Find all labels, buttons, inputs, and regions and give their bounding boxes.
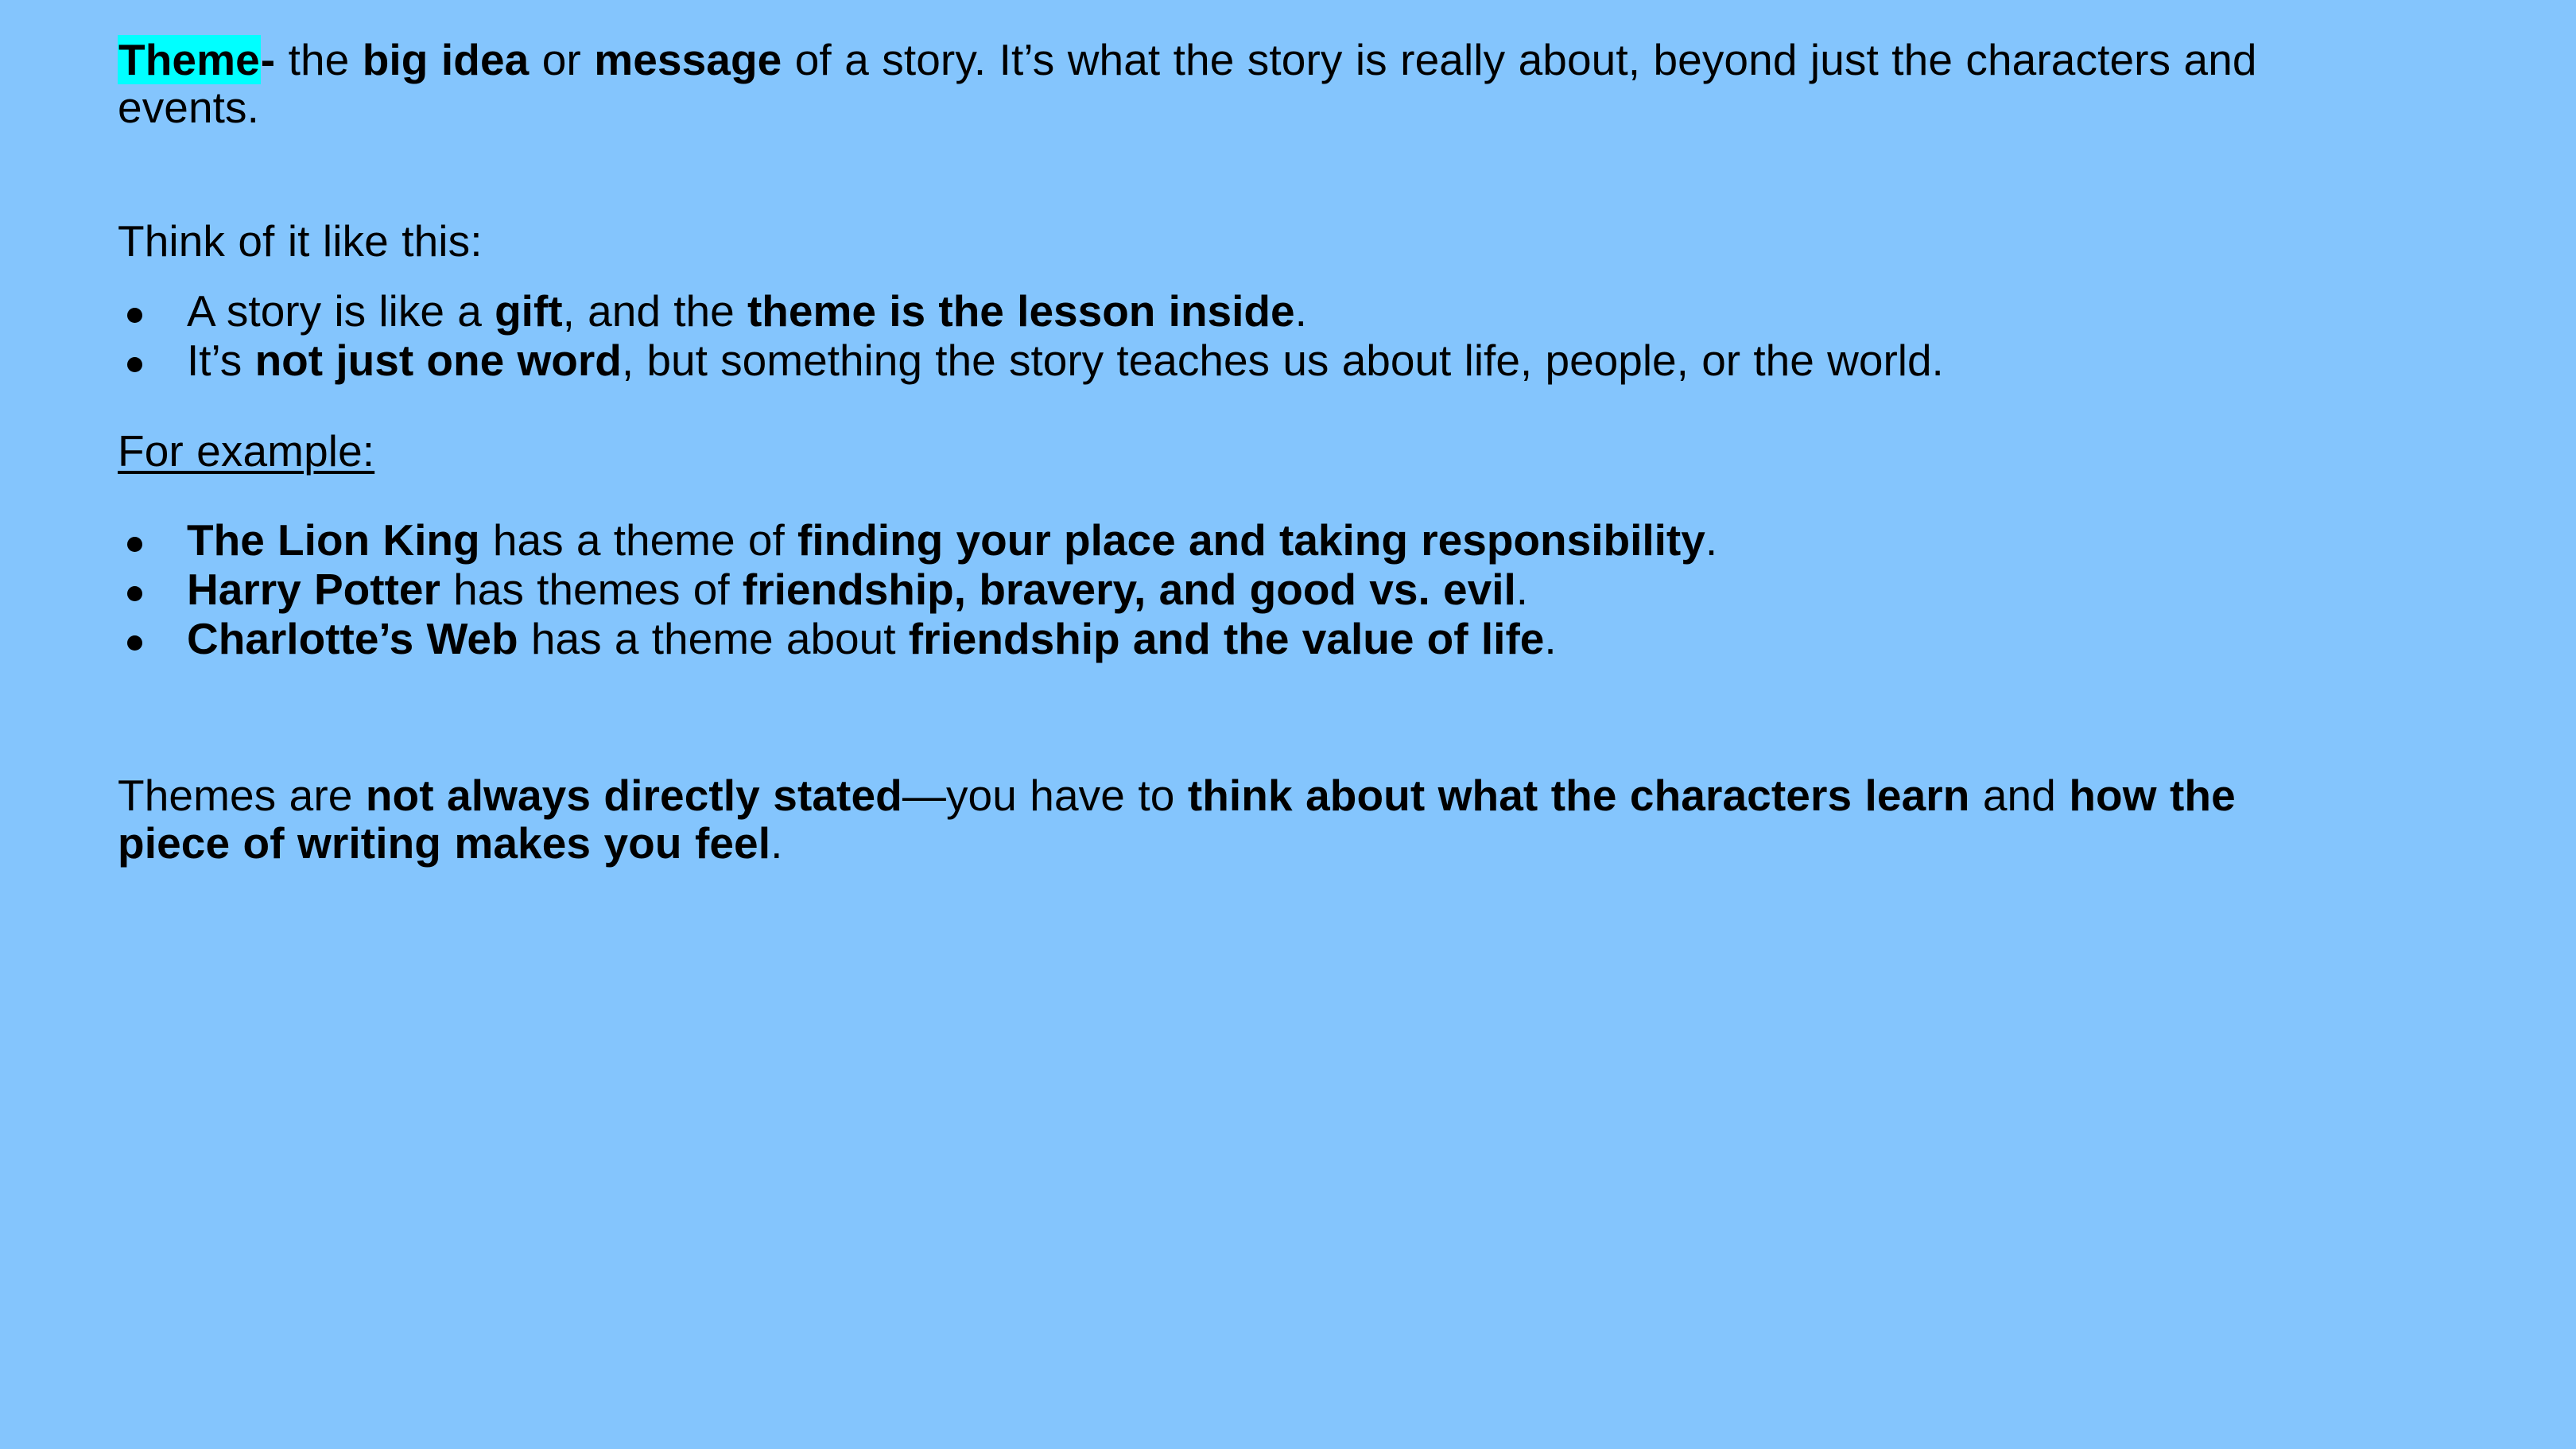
example-end-text: . bbox=[1544, 614, 1556, 663]
closing-text-part2: —you have to bbox=[902, 771, 1188, 820]
bullet-bold-lesson-inside: theme is the lesson inside bbox=[747, 286, 1295, 336]
bullet-text-part1: It’s bbox=[187, 336, 255, 385]
spacer-after-intro bbox=[118, 132, 2344, 218]
example-end-text: . bbox=[1705, 515, 1717, 565]
example-bullet-list: The Lion King has a theme of finding you… bbox=[118, 517, 2336, 663]
closing-bold-not-always-stated: not always directly stated bbox=[366, 771, 902, 820]
intro-paragraph: Theme- the big idea or message of a stor… bbox=[118, 37, 2336, 132]
list-item: The Lion King has a theme of finding you… bbox=[118, 517, 2336, 565]
intro-dash: - bbox=[261, 35, 289, 84]
closing-text-part4: . bbox=[770, 818, 782, 868]
closing-bold-think-about: think about what the characters learn bbox=[1188, 771, 1970, 820]
closing-text-part1: Themes are bbox=[118, 771, 366, 820]
example-emphasis-text: friendship and the value of life bbox=[909, 614, 1545, 663]
spacer-before-closing-extra bbox=[118, 750, 2344, 772]
document-content: Theme- the big idea or message of a stor… bbox=[118, 37, 2344, 868]
list-item: It’s not just one word, but something th… bbox=[118, 337, 2336, 385]
example-end-text: . bbox=[1516, 565, 1528, 614]
example-middle-text: has themes of bbox=[440, 565, 743, 614]
closing-text-part3: and bbox=[1969, 771, 2069, 820]
theme-term-highlighted: Theme bbox=[118, 35, 261, 84]
bullet-bold-gift: gift bbox=[495, 286, 563, 336]
closing-paragraph-block: Themes are not always directly stated—yo… bbox=[118, 772, 2264, 868]
intro-paragraph-block: Theme- the big idea or message of a stor… bbox=[118, 37, 2336, 132]
bullet-text-part1: A story is like a bbox=[187, 286, 495, 336]
example-title-lion-king: The Lion King bbox=[187, 515, 480, 565]
bullet-text-part2: , and the bbox=[563, 286, 747, 336]
bullet-bold-not-just-one-word: not just one word bbox=[255, 336, 622, 385]
example-middle-text: has a theme of bbox=[480, 515, 797, 565]
spacer-after-lead-in bbox=[118, 266, 2344, 288]
intro-bold-big-idea: big idea bbox=[363, 35, 530, 84]
example-emphasis-text: friendship, bravery, and good vs. evil bbox=[743, 565, 1516, 614]
lead-in-heading: Think of it like this: bbox=[118, 218, 2344, 266]
bullet-text-part3: . bbox=[1295, 286, 1307, 336]
spacer-after-for-example bbox=[118, 476, 2344, 517]
spacer-before-closing bbox=[118, 664, 2344, 750]
list-item: A story is like a gift, and the theme is… bbox=[118, 288, 2336, 336]
intro-text-before-bold1: the bbox=[289, 35, 363, 84]
intro-text-between-bold: or bbox=[529, 35, 594, 84]
intro-bold-message: message bbox=[594, 35, 782, 84]
document-page: Theme- the big idea or message of a stor… bbox=[0, 0, 2576, 1449]
example-title-harry-potter: Harry Potter bbox=[187, 565, 440, 614]
bullet-text-part2: , but something the story teaches us abo… bbox=[622, 336, 1944, 385]
for-example-heading: For example: bbox=[118, 426, 374, 476]
think-bullet-list: A story is like a gift, and the theme is… bbox=[118, 288, 2336, 385]
list-item: Charlotte’s Web has a theme about friend… bbox=[118, 616, 2336, 663]
closing-paragraph: Themes are not always directly stated—yo… bbox=[118, 772, 2264, 868]
list-item: Harry Potter has themes of friendship, b… bbox=[118, 566, 2336, 614]
for-example-heading-wrapper: For example: bbox=[118, 428, 2344, 476]
example-title-charlottes-web: Charlotte’s Web bbox=[187, 614, 518, 663]
example-middle-text: has a theme about bbox=[518, 614, 909, 663]
spacer-before-for-example bbox=[118, 387, 2344, 428]
example-emphasis-text: finding your place and taking responsibi… bbox=[797, 515, 1705, 565]
